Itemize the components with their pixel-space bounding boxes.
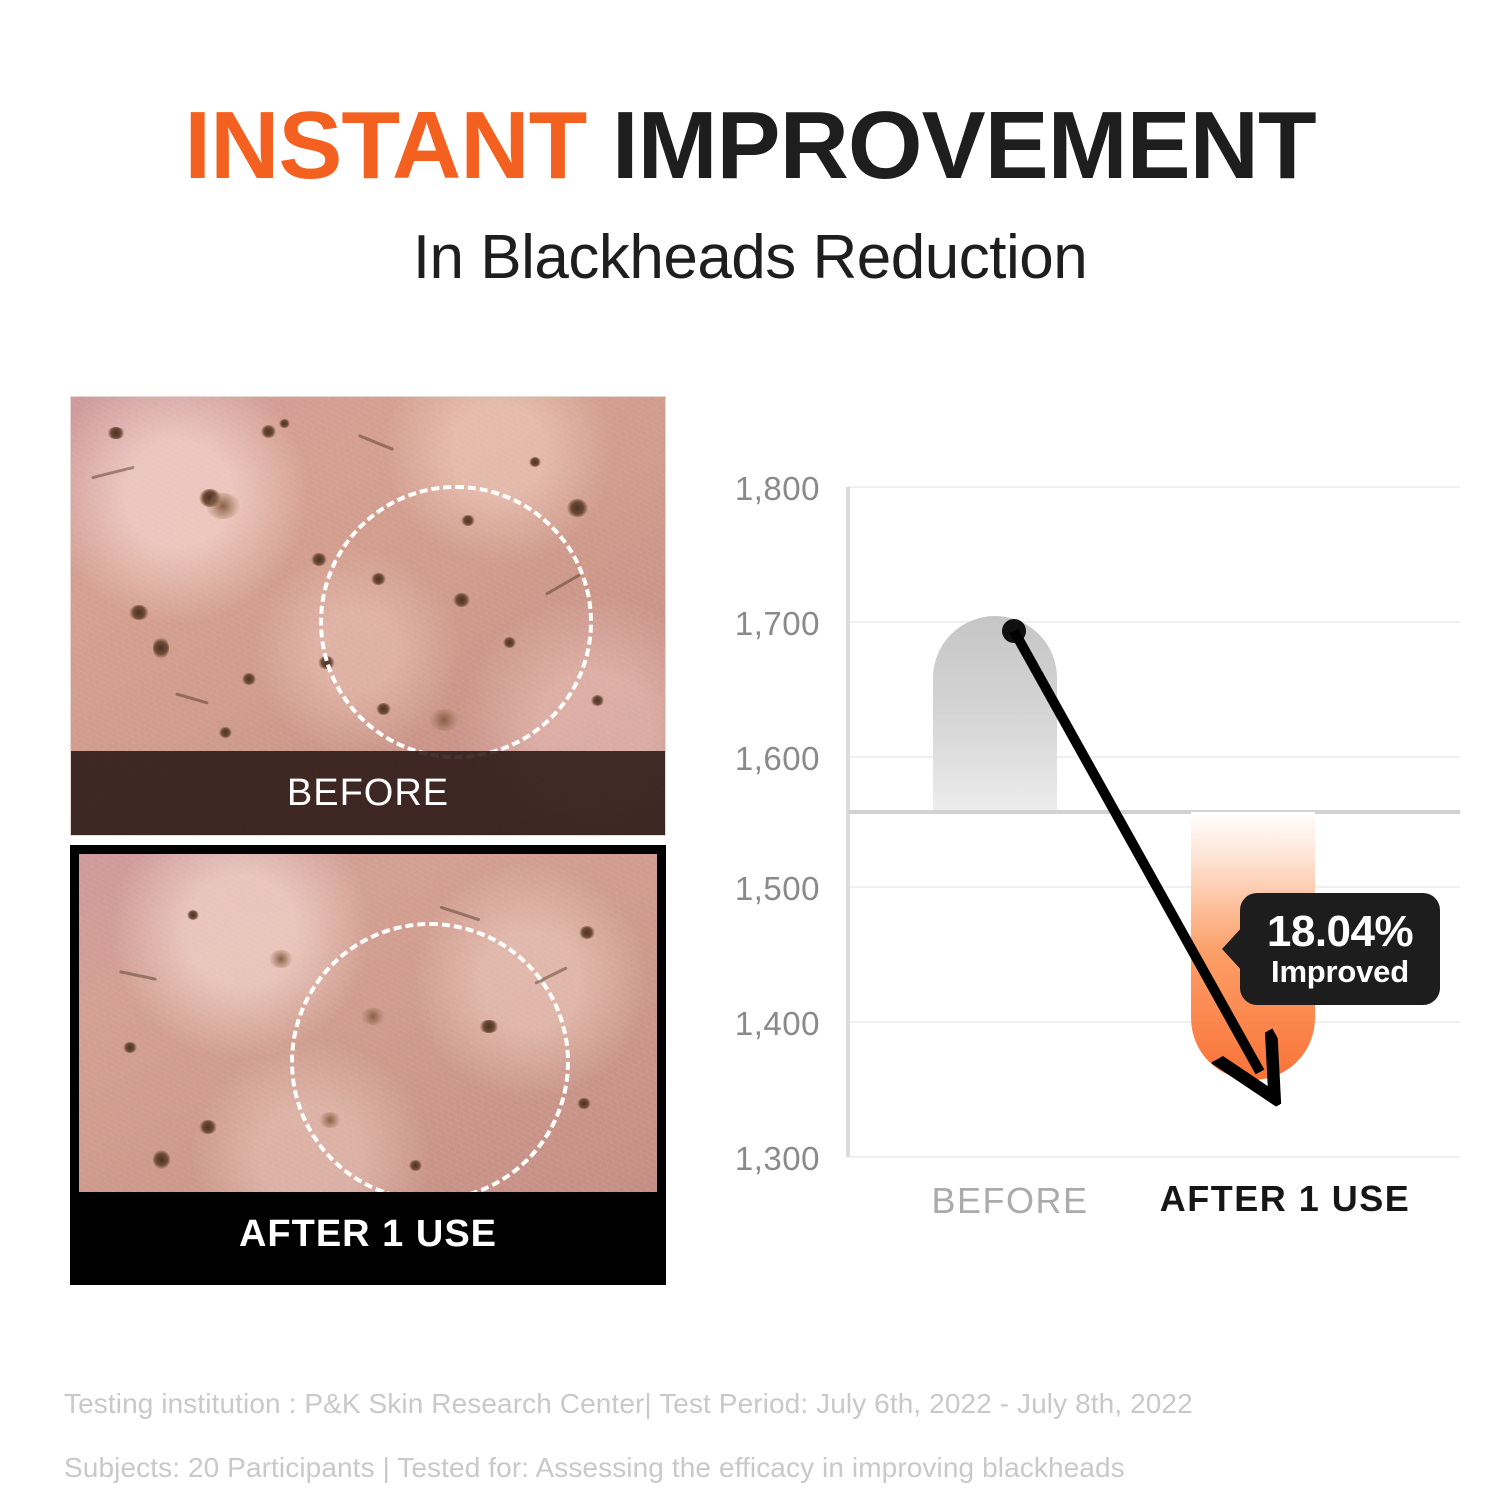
chart-canvas [700,440,1460,1240]
pore [123,1042,137,1053]
highlight-circle-after [290,922,570,1202]
pore [199,1120,217,1134]
page-title: INSTANT IMPROVEMENT [0,96,1500,197]
blackhead-reduction-chart: 1,800 1,700 1,600 1,500 1,400 1,300 [700,440,1460,1240]
pore [219,727,232,738]
pore [579,926,595,939]
footer: Testing institution : P&K Skin Research … [64,1390,1444,1482]
pore [107,427,125,439]
header: INSTANT IMPROVEMENT In Blackheads Reduct… [0,0,1500,330]
pore [269,950,293,968]
pore [261,425,276,438]
pore [206,493,240,519]
pore [129,605,149,620]
pore [187,910,199,920]
pore [279,419,290,428]
badge-label: Improved [1271,955,1409,989]
photo-before: BEFORE [70,396,666,836]
pore [591,695,604,706]
pore [311,553,327,566]
badge-percent: 18.04% [1267,909,1413,955]
photo-caption-before: BEFORE [71,751,665,835]
x-label-after: AFTER 1 USE [1120,1178,1450,1220]
pore [153,1150,170,1169]
highlight-circle-before [319,485,593,759]
footnote-line-1: Testing institution : P&K Skin Research … [64,1390,1444,1418]
page-title-rest: IMPROVEMENT [612,92,1316,199]
pore [567,499,588,517]
footnote-line-2: Subjects: 20 Participants | Tested for: … [64,1454,1444,1482]
page-title-accent: INSTANT [184,92,586,199]
photo-after: AFTER 1 USE [70,845,666,1285]
x-label-before: BEFORE [860,1180,1160,1222]
pore [529,457,541,467]
bar-before [933,616,1057,812]
chart-gridlines [848,487,1460,1157]
pore [242,673,256,685]
photo-caption-after: AFTER 1 USE [79,1192,657,1276]
improvement-badge: 18.04% Improved [1240,893,1440,1005]
pore [153,637,169,659]
page-subtitle: In Blackheads Reduction [0,222,1500,293]
pore [577,1098,591,1109]
